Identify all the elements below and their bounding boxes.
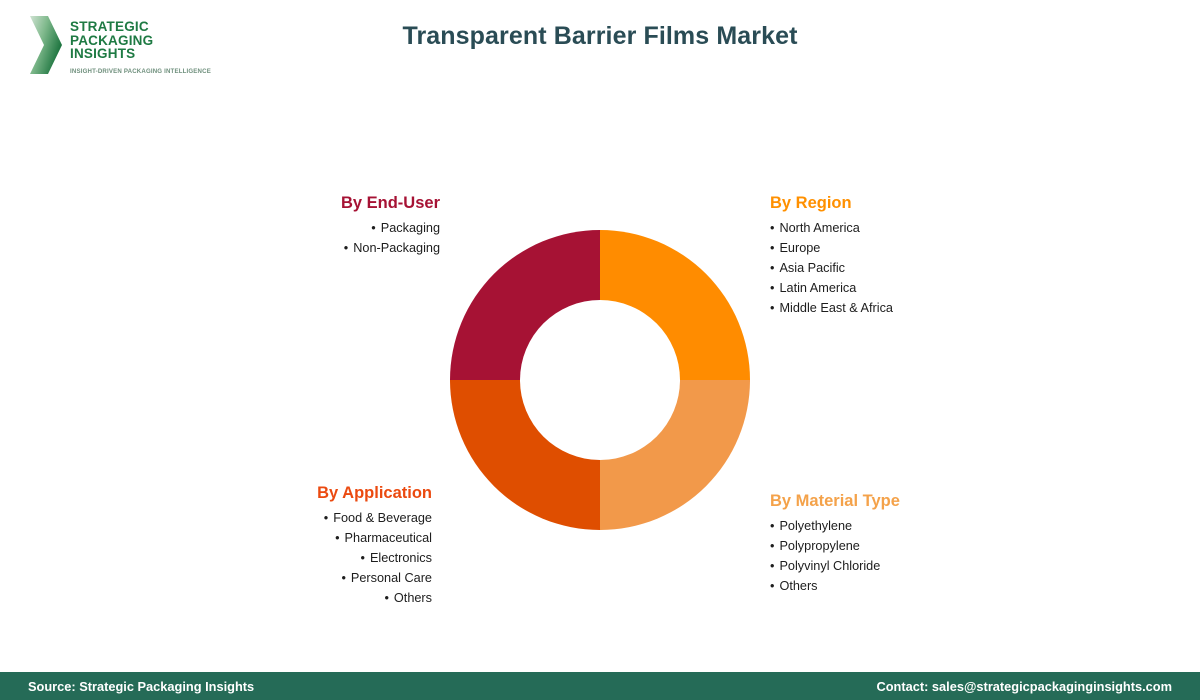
list-item: Polypropylene bbox=[770, 536, 1100, 556]
list-item: Others bbox=[770, 576, 1100, 596]
page-title: Transparent Barrier Films Market bbox=[0, 22, 1200, 51]
list-item: Food & Beverage bbox=[140, 508, 432, 528]
list-item: Others bbox=[140, 588, 432, 608]
segment-application: By Application Food & BeveragePharmaceut… bbox=[140, 483, 432, 608]
list-item: Pharmaceutical bbox=[140, 528, 432, 548]
segment-list-material-type: PolyethylenePolypropylenePolyvinyl Chlor… bbox=[770, 516, 1100, 596]
list-item: Packaging bbox=[190, 218, 440, 238]
donut-center-hole bbox=[520, 300, 680, 460]
logo-tagline: INSIGHT-DRIVEN PACKAGING INTELLIGENCE bbox=[70, 68, 211, 76]
segment-material-type: By Material Type PolyethylenePolypropyle… bbox=[770, 491, 1100, 596]
list-item: Latin America bbox=[770, 278, 1100, 298]
list-item: Europe bbox=[770, 238, 1100, 258]
donut-chart-svg bbox=[450, 230, 750, 530]
segment-title-material-type: By Material Type bbox=[770, 491, 1100, 511]
list-item: Electronics bbox=[140, 548, 432, 568]
list-item: Middle East & Africa bbox=[770, 298, 1100, 318]
list-item: Non-Packaging bbox=[190, 238, 440, 258]
list-item: North America bbox=[770, 218, 1100, 238]
segment-title-end-user: By End-User bbox=[190, 193, 440, 213]
donut-chart bbox=[450, 230, 750, 530]
list-item: Polyvinyl Chloride bbox=[770, 556, 1100, 576]
footer-bar: Source: Strategic Packaging Insights Con… bbox=[0, 672, 1200, 700]
footer-contact: Contact: sales@strategicpackaginginsight… bbox=[876, 679, 1172, 694]
segment-end-user: By End-User PackagingNon-Packaging bbox=[190, 193, 440, 258]
market-infographic-page: STRATEGIC PACKAGING INSIGHTS INSIGHT-DRI… bbox=[0, 0, 1200, 700]
footer-source: Source: Strategic Packaging Insights bbox=[28, 679, 254, 694]
list-item: Polyethylene bbox=[770, 516, 1100, 536]
segment-region: By Region North AmericaEuropeAsia Pacifi… bbox=[770, 193, 1100, 318]
segment-list-end-user: PackagingNon-Packaging bbox=[190, 218, 440, 258]
segment-list-region: North AmericaEuropeAsia PacificLatin Ame… bbox=[770, 218, 1100, 318]
segment-title-application: By Application bbox=[140, 483, 432, 503]
segment-title-region: By Region bbox=[770, 193, 1100, 213]
segment-list-application: Food & BeveragePharmaceuticalElectronics… bbox=[140, 508, 432, 608]
list-item: Asia Pacific bbox=[770, 258, 1100, 278]
list-item: Personal Care bbox=[140, 568, 432, 588]
